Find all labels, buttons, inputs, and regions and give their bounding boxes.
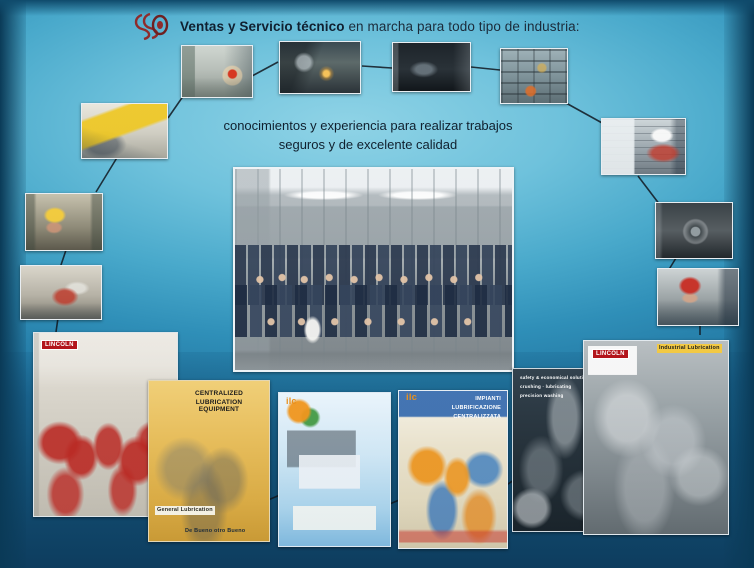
photo-welding-workshop — [181, 45, 253, 98]
photo-machine-room — [392, 42, 471, 92]
brochure-ilc-blue-brand: ilc — [284, 397, 299, 406]
brochure-impianti-lubrificazione-centralizzata: ilc IMPIANTI LUBRIFICAZIONE CENTRALIZZAT… — [398, 390, 508, 549]
brochure-impianti-title-1: IMPIANTI — [450, 395, 503, 404]
title-rest-part: en marcha para todo tipo de industria: — [345, 19, 580, 34]
brochure-centralized-title-2: LUBRICATION EQUIPMENT — [173, 398, 265, 414]
brochure-centralized-label-left: General Lubrication — [155, 506, 215, 515]
brochure-impianti-title-3: CENTRALIZZATA — [450, 413, 503, 422]
company-logo-icon — [130, 9, 172, 43]
brochure-lincoln-right-label: Industrial Lubrication — [657, 344, 722, 353]
caption-line-2: seguros y de excelente calidad — [182, 135, 554, 154]
photo-company-team — [233, 167, 514, 372]
photo-bench-maintenance — [20, 265, 102, 320]
brochure-lincoln-left-brand: LINCOLN — [41, 340, 78, 350]
brochure-dark-title-2: crushing · lubricating — [518, 382, 591, 391]
photo-grinding-operator — [279, 41, 361, 94]
photo-technician-control-panel — [601, 118, 686, 175]
brochure-centralized-title-1: CENTRALIZED — [173, 389, 265, 398]
brochure-centralized-lubrication-equipment: CENTRALIZED LUBRICATION EQUIPMENT Genera… — [148, 380, 270, 542]
photo-yellow-equipment — [81, 103, 168, 159]
center-caption: conocimientos y experiencia para realiza… — [182, 116, 554, 154]
photo-rotating-machine-detail — [655, 202, 733, 259]
photo-red-helmet-technician — [657, 268, 739, 326]
brochure-dark-title-3: precision washing — [518, 391, 591, 400]
title-bold-part: Ventas y Servicio técnico — [180, 19, 345, 34]
brochure-dark-title-1: safety & economical solution — [518, 373, 591, 382]
caption-line-1: conocimientos y experiencia para realiza… — [182, 116, 554, 135]
photo-worker-with-helmet — [25, 193, 103, 251]
brochure-impianti-brand: ilc — [404, 393, 419, 402]
title-text-line: Ventas y Servicio técnico en marcha para… — [180, 19, 580, 34]
slide-canvas: Ventas y Servicio técnico en marcha para… — [0, 0, 754, 568]
slide-title: Ventas y Servicio técnico en marcha para… — [130, 6, 690, 46]
brochure-impianti-title-2: LUBRIFICAZIONE — [450, 404, 503, 413]
brochure-lincoln-right-brand: LINCOLN — [592, 349, 629, 359]
brochure-lincoln-industrial-lubrication: LINCOLN Industrial Lubrication — [583, 340, 729, 535]
brochure-centralized-label-bottom: De Bueno otro Bueno — [183, 527, 247, 536]
photo-warehouse-shelves — [500, 48, 568, 104]
brochure-ilc-controller: ilc — [278, 392, 391, 547]
